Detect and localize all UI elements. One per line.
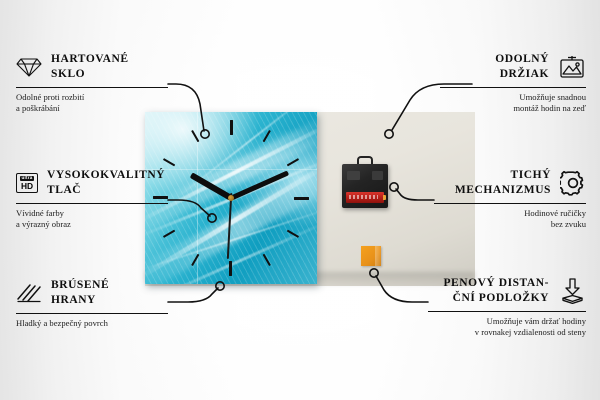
feature-high-quality-print: ultra HD VYSOKOKVALITNÝ TLAČ Vívidné far… [16, 168, 168, 231]
feature-title-line2: MECHANIZMUS [455, 183, 551, 198]
feature-title-line2: SKLO [51, 67, 129, 82]
ultra-hd-icon: ultra HD [16, 173, 38, 193]
feature-durable-holder: ODOLNÝ DRŽIAK Umožňuje snadnou montáž ho… [440, 52, 586, 115]
feature-desc-line2: montáž hodin na zeď [440, 103, 586, 114]
infographic-canvas: HARTOVANÉ SKLO Odolné proti rozbití a po… [0, 0, 600, 400]
feature-rule [434, 203, 586, 204]
feature-title-line2: TLAČ [47, 183, 165, 198]
leader-dot-print [208, 214, 216, 222]
feature-desc-line1: Vívidné farby [16, 208, 168, 219]
feature-foam-spacers: PENOVÝ DISTAN- ČNÍ PODLOŽKY Umožňuje vám… [428, 276, 586, 339]
feature-title-line2: DRŽIAK [495, 67, 549, 82]
feature-title-line1: TICHÝ [455, 168, 551, 183]
feature-rule [16, 87, 168, 88]
feature-rule [16, 203, 168, 204]
leader-dot-holder [385, 130, 393, 138]
picture-frame-icon [558, 55, 586, 79]
leader-dot-glass [201, 130, 209, 138]
feature-ground-edges: BRÚSENÉ HRANY Hladký a bezpečný povrch [16, 278, 168, 329]
feature-title-line2: ČNÍ PODLOŽKY [443, 291, 549, 306]
diagonal-lines-icon [16, 282, 42, 304]
feature-rule [16, 313, 168, 314]
diamond-icon [16, 56, 42, 78]
feature-title-line1: VYSOKOKVALITNÝ [47, 168, 165, 183]
gear-icon [560, 170, 586, 196]
leader-dot-mech [390, 183, 398, 191]
feature-rule [440, 87, 586, 88]
feature-silent-mechanism: TICHÝ MECHANIZMUS Hodinové ručičky bez z… [434, 168, 586, 231]
feature-desc-line1: Umožňuje vám držať hodiny [428, 316, 586, 327]
feature-desc-line1: Hladký a bezpečný povrch [16, 318, 168, 329]
feature-title-line1: PENOVÝ DISTAN- [443, 276, 549, 291]
leader-dot-foam [370, 269, 378, 277]
feature-desc-line2: bez zvuku [434, 219, 586, 230]
ultra-hd-badge-large: HD [21, 182, 33, 190]
stack-arrow-icon [558, 278, 586, 304]
feature-tempered-glass: HARTOVANÉ SKLO Odolné proti rozbití a po… [16, 52, 168, 115]
feature-desc-line1: Umožňuje snadnou [440, 92, 586, 103]
feature-title-line1: HARTOVANÉ [51, 52, 129, 67]
feature-desc-line2: a výrazný obraz [16, 219, 168, 230]
leader-dot-edges [216, 282, 224, 290]
feature-desc-line2: a poškrábání [16, 103, 168, 114]
feature-desc-line1: Hodinové ručičky [434, 208, 586, 219]
feature-desc-line1: Odolné proti rozbití [16, 92, 168, 103]
feature-title-line1: BRÚSENÉ [51, 278, 109, 293]
feature-rule [428, 311, 586, 312]
feature-title-line2: HRANY [51, 293, 109, 308]
feature-title-line1: ODOLNÝ [495, 52, 549, 67]
feature-desc-line2: v rovnakej vzdialenosti od steny [428, 327, 586, 338]
